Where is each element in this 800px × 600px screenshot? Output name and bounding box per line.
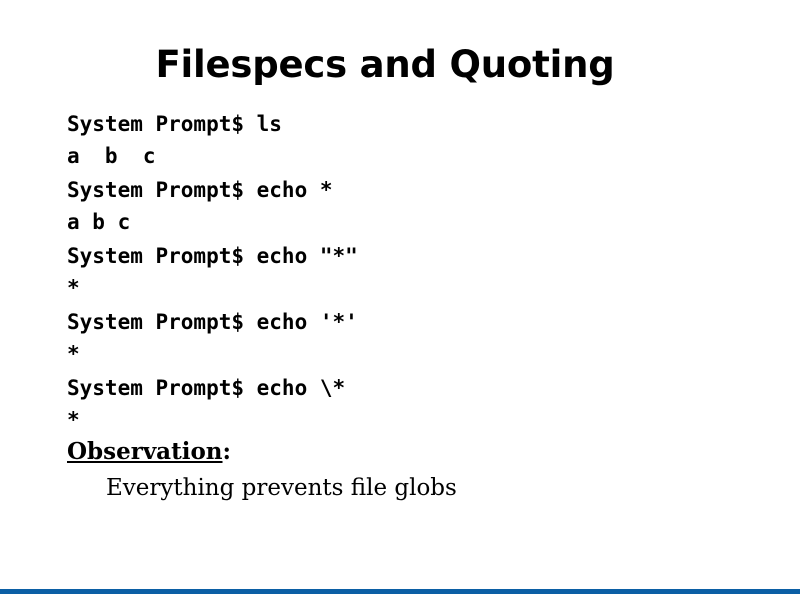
bottom-accent-rule <box>0 589 800 594</box>
observation-block: Observation: Everything prevents file gl… <box>67 437 767 503</box>
observation-body-text: Everything prevents file globs <box>67 473 767 503</box>
transcript-line-output: * <box>67 272 767 305</box>
transcript-line-output: a b c <box>67 140 767 173</box>
observation-heading: Observation: <box>67 437 767 467</box>
transcript-line-prompt: System Prompt$ echo '*' <box>67 306 767 338</box>
observation-label: Observation <box>67 438 223 465</box>
transcript-line-prompt: System Prompt$ echo * <box>67 174 767 206</box>
transcript-line-prompt: System Prompt$ ls <box>67 108 767 140</box>
transcript-line-prompt: System Prompt$ echo \* <box>67 372 767 404</box>
page-title: Filespecs and Quoting <box>0 43 770 87</box>
transcript-line-output: * <box>67 338 767 371</box>
transcript-line-output: * <box>67 404 767 437</box>
terminal-transcript: System Prompt$ ls a b c System Prompt$ e… <box>67 108 767 437</box>
transcript-line-prompt: System Prompt$ echo "*" <box>67 240 767 272</box>
transcript-line-output: a b c <box>67 206 767 239</box>
slide-canvas: Filespecs and Quoting System Prompt$ ls … <box>0 0 800 600</box>
observation-colon: : <box>223 438 232 465</box>
